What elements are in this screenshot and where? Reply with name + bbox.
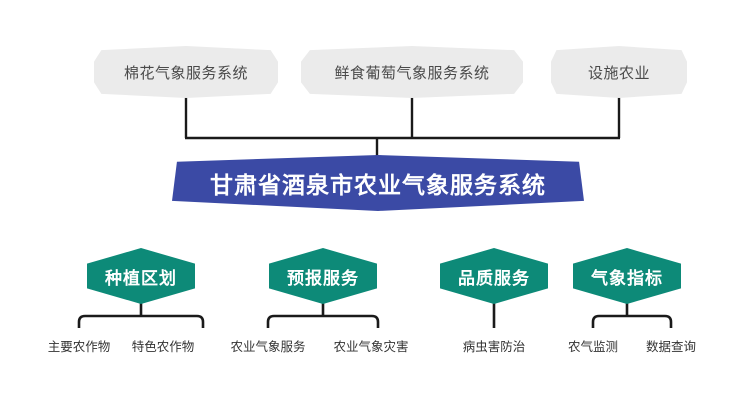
top-node-cotton[interactable]: 棉花气象服务系统 [94, 46, 278, 98]
leaf-node-agro-weather-monitoring[interactable]: 农气监测 [568, 336, 618, 355]
leaf-node-label: 病虫害防治 [463, 340, 526, 354]
leaf-node-main-crops[interactable]: 主要农作物 [48, 336, 111, 355]
top-node-label: 棉花气象服务系统 [124, 62, 248, 83]
leaf-node-label: 数据查询 [646, 340, 696, 354]
leaf-node-label: 农业气象灾害 [333, 340, 408, 354]
category-node-label: 气象指标 [591, 264, 663, 289]
leaf-node-specialty-crops[interactable]: 特色农作物 [132, 336, 195, 355]
category-node-label: 品质服务 [458, 264, 530, 289]
top-node-facility-agriculture[interactable]: 设施农业 [551, 46, 687, 98]
category-node-meteorological-indicators[interactable]: 气象指标 [573, 248, 681, 304]
leaf-node-agro-meteorological-disaster[interactable]: 农业气象灾害 [333, 336, 408, 355]
category-node-quality-service[interactable]: 品质服务 [440, 248, 548, 304]
category-node-forecast-service[interactable]: 预报服务 [269, 248, 377, 304]
wire-bracket-2 [268, 316, 378, 328]
leaf-node-label: 农业气象服务 [230, 340, 305, 354]
diagram-canvas: 棉花气象服务系统 鲜食葡萄气象服务系统 设施农业 甘肃省酒泉市农业气象服务系统 … [0, 0, 749, 408]
leaf-node-label: 主要农作物 [48, 340, 111, 354]
center-node-label: 甘肃省酒泉市农业气象服务系统 [210, 166, 546, 200]
top-node-label: 鲜食葡萄气象服务系统 [334, 62, 489, 83]
category-node-planting-zoning[interactable]: 种植区划 [87, 248, 195, 304]
center-node-main-system[interactable]: 甘肃省酒泉市农业气象服务系统 [172, 155, 584, 211]
wire-bracket-4 [593, 316, 671, 328]
top-node-label: 设施农业 [588, 62, 650, 83]
leaf-node-data-query[interactable]: 数据查询 [646, 336, 696, 355]
wire-bracket-1 [79, 316, 203, 328]
category-node-label: 预报服务 [287, 264, 359, 289]
top-node-table-grape[interactable]: 鲜食葡萄气象服务系统 [301, 46, 523, 98]
category-node-label: 种植区划 [105, 264, 177, 289]
leaf-node-pest-control[interactable]: 病虫害防治 [463, 336, 526, 355]
leaf-node-label: 特色农作物 [132, 340, 195, 354]
leaf-node-agro-meteorological-service[interactable]: 农业气象服务 [230, 336, 305, 355]
leaf-node-label: 农气监测 [568, 340, 618, 354]
